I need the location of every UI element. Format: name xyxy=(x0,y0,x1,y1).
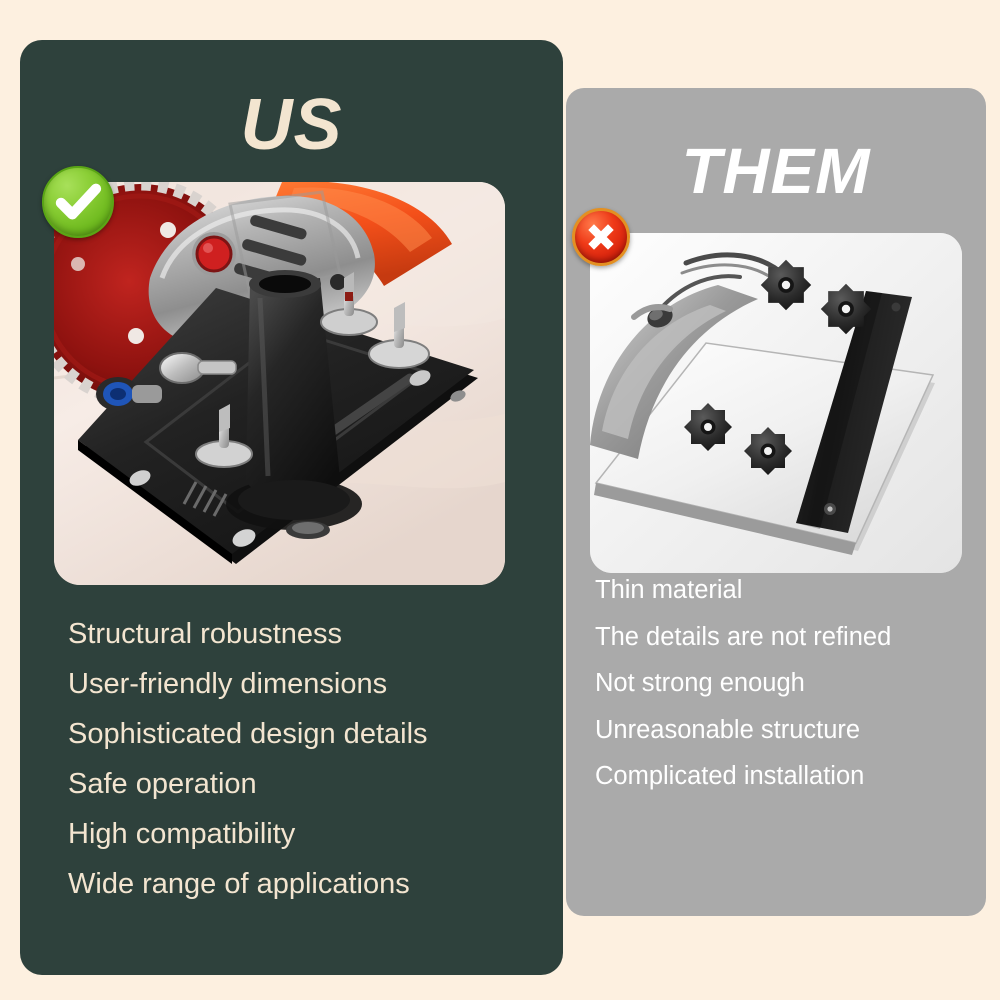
them-feature-list: Thin material The details are not refine… xyxy=(595,578,968,811)
them-card: THEM xyxy=(566,88,986,916)
us-title: US xyxy=(20,84,563,166)
them-photo-illustration xyxy=(590,233,962,573)
them-feature-item: The details are not refined xyxy=(595,625,968,651)
us-feature-list: Structural robustness User-friendly dime… xyxy=(68,620,543,920)
check-icon xyxy=(44,168,112,236)
them-feature-item: Thin material xyxy=(595,578,968,604)
them-product-photo xyxy=(590,233,962,573)
comparison-infographic: THEM xyxy=(0,0,1000,1000)
them-feature-item: Not strong enough xyxy=(595,671,968,697)
us-feature-item: Structural robustness xyxy=(68,620,543,649)
x-badge xyxy=(572,208,630,266)
us-feature-item: High compatibility xyxy=(68,820,543,849)
close-icon xyxy=(575,211,627,263)
us-feature-item: Sophisticated design details xyxy=(68,720,543,749)
them-feature-item: Unreasonable structure xyxy=(595,718,968,744)
us-product-photo xyxy=(54,182,505,585)
them-title: THEM xyxy=(562,134,990,208)
check-badge xyxy=(42,166,114,238)
us-feature-item: Wide range of applications xyxy=(68,870,543,899)
us-feature-item: User-friendly dimensions xyxy=(68,670,543,699)
us-feature-item: Safe operation xyxy=(68,770,543,799)
them-feature-item: Complicated installation xyxy=(595,764,968,790)
us-photo-illustration xyxy=(54,182,505,585)
